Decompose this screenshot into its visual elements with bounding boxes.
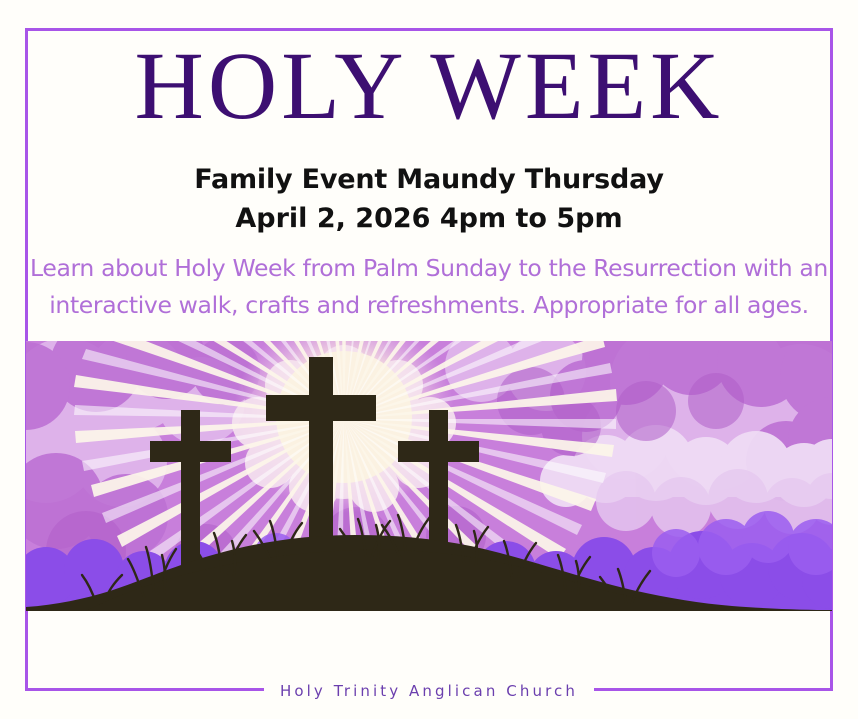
footer: Holy Trinity Anglican Church [25, 677, 833, 705]
organization-name: Holy Trinity Anglican Church [264, 682, 594, 700]
page-title: HOLY WEEK [0, 38, 858, 134]
crosses-illustration [26, 341, 832, 611]
event-subtitle-line-1: Family Event Maundy Thursday [0, 160, 858, 199]
crosses-illustration-svg [26, 341, 832, 611]
event-description: Learn about Holy Week from Palm Sunday t… [30, 250, 828, 324]
event-subtitle: Family Event Maundy Thursday April 2, 20… [0, 160, 858, 238]
holy-week-poster: HOLY WEEK Family Event Maundy Thursday A… [0, 0, 858, 719]
event-subtitle-line-2: April 2, 2026 4pm to 5pm [0, 199, 858, 238]
